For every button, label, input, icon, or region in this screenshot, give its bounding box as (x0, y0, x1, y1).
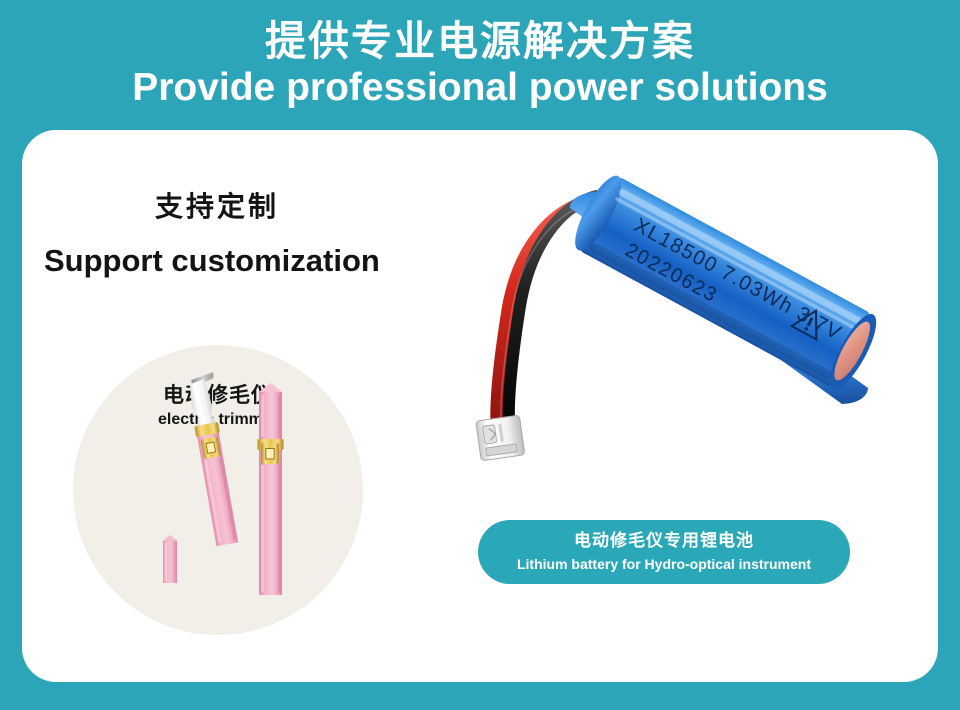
jst-connector (476, 415, 525, 461)
content-card: 支持定制 Support customization 电动修毛仪 electri… (22, 130, 938, 682)
trimmer-open-unit (186, 372, 243, 546)
electric-trimmer-icon (73, 345, 363, 635)
support-heading-english: Support customization (44, 243, 380, 279)
trimmer-cap (163, 535, 177, 583)
banner-title-english: Provide professional power solutions (132, 67, 828, 110)
header-banner: 提供专业电源解决方案 Provide professional power so… (0, 0, 960, 130)
battery-product-image: XL18500 7.03Wh 3.7V 20220623 (400, 150, 938, 500)
support-heading-chinese: 支持定制 (155, 185, 279, 225)
battery-illustration: XL18500 7.03Wh 3.7V 20220623 (400, 150, 938, 500)
caption-text-chinese: 电动修毛仪专用锂电池 (574, 532, 754, 551)
trimmer-circle-inset: 电动修毛仪 electric trimmer (73, 345, 363, 635)
caption-text-english: Lithium battery for Hydro-optical instru… (517, 557, 811, 572)
product-caption-pill: 电动修毛仪专用锂电池 Lithium battery for Hydro-opt… (478, 520, 850, 584)
poster-root: 提供专业电源解决方案 Provide professional power so… (0, 0, 960, 710)
banner-title-chinese: 提供专业电源解决方案 (265, 20, 695, 63)
trimmer-closed-unit (258, 383, 284, 595)
battery-cell: XL18500 7.03Wh 3.7V 20220623 (567, 170, 885, 404)
